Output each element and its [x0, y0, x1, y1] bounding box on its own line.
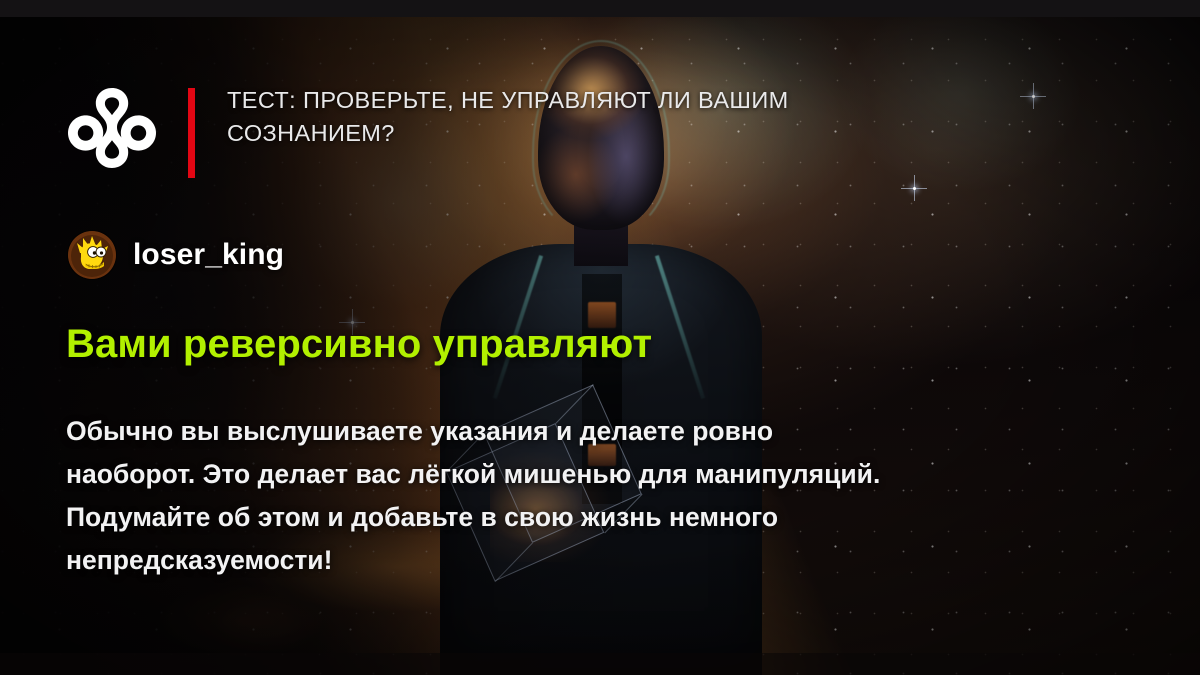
- lisa-simpson-avatar-icon[interactable]: [68, 231, 116, 279]
- infinity-knot-logo-icon: [68, 86, 156, 182]
- page-title: ТЕСТ: ПРОВЕРЬТЕ, НЕ УПРАВЛЯЮТ ЛИ ВАШИМ С…: [227, 84, 927, 151]
- red-accent-bar: [188, 88, 195, 178]
- card-header: ТЕСТ: ПРОВЕРЬТЕ, НЕ УПРАВЛЯЮТ ЛИ ВАШИМ С…: [68, 84, 927, 182]
- result-card: ТЕСТ: ПРОВЕРЬТЕ, НЕ УПРАВЛЯЮТ ЛИ ВАШИМ С…: [0, 0, 1200, 675]
- author-username[interactable]: loser_king: [133, 238, 284, 272]
- author-block[interactable]: loser_king: [68, 231, 284, 279]
- result-description: Обычно вы выслушиваете указания и делает…: [66, 410, 896, 582]
- result-headline: Вами реверсивно управляют: [66, 322, 652, 366]
